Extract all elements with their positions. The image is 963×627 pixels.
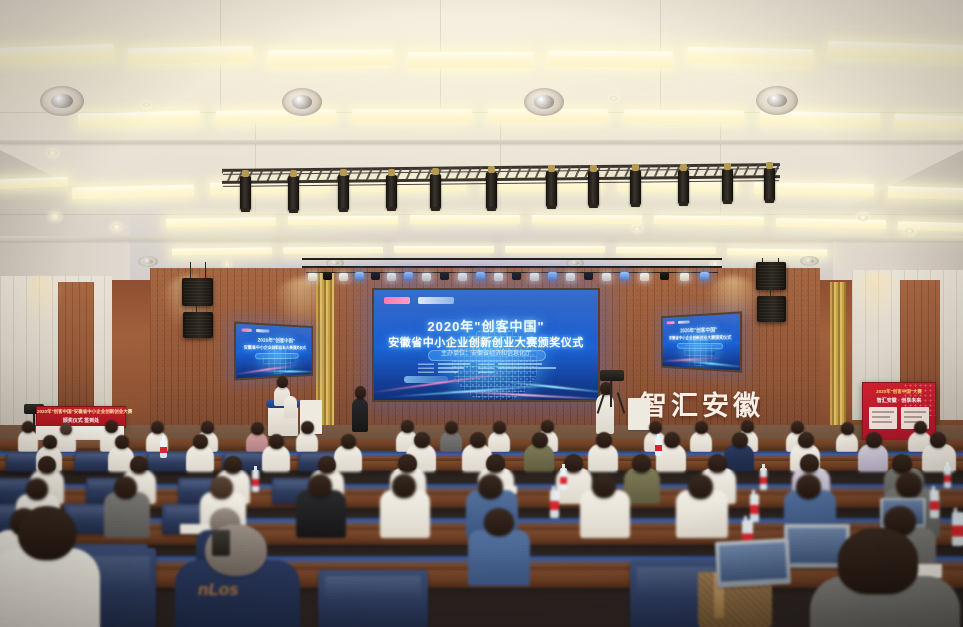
ceiling-lamp	[394, 246, 494, 253]
air-vent	[800, 256, 819, 266]
ceiling-lamp	[616, 247, 716, 255]
stage-person-head	[355, 386, 366, 399]
screen-detail-bar	[438, 371, 458, 373]
ceiling-lamp	[505, 246, 605, 253]
speaker-rigging-wire	[196, 306, 197, 312]
screen-detail-block	[478, 362, 494, 373]
anhui-gov-logo	[678, 320, 690, 323]
par-can-light	[371, 272, 380, 280]
par-can-light	[355, 272, 364, 280]
ceiling-lamp	[352, 109, 472, 122]
ceiling-lamp	[166, 217, 276, 228]
speaker-rigging-wire	[205, 262, 206, 278]
par-can-light	[548, 272, 557, 280]
tshirt-print: nLos	[198, 580, 276, 602]
moving-head-light	[486, 172, 497, 209]
line-array-speaker	[183, 312, 213, 338]
host-head	[277, 376, 288, 388]
rollup-sub: 智汇安徽 · 创享未来	[863, 397, 935, 404]
par-can-light	[440, 272, 449, 280]
par-can-light	[602, 273, 611, 281]
ceiling-lamp	[268, 49, 393, 66]
ceiling-downlight	[224, 262, 230, 266]
par-can-light	[680, 273, 689, 281]
ceiling-lamp	[888, 186, 963, 200]
screen-title: 2020年"创客中国"	[236, 336, 311, 345]
moving-head-light	[764, 168, 775, 201]
screen-detail-bar	[438, 367, 464, 369]
ceiling-downlight	[905, 228, 914, 234]
ceiling-lamp	[688, 47, 813, 66]
water-bottle	[952, 512, 963, 546]
ceiling-downlight	[610, 96, 617, 101]
moving-head-light	[722, 169, 733, 202]
anhui-gov-logo	[256, 329, 270, 333]
front-audience-head	[838, 528, 918, 594]
par-can-light	[458, 273, 467, 281]
screen-subtitle: 安徽省中小企业创新创业大赛颁奖仪式	[236, 344, 311, 351]
stage-curtain-right	[830, 282, 846, 432]
ceiling-downlight	[112, 224, 121, 230]
moving-head-light	[630, 170, 641, 205]
ceiling-lamp	[216, 109, 336, 123]
wall-wash-light	[848, 272, 904, 328]
audience-chair	[318, 570, 428, 627]
par-can-light	[422, 273, 431, 281]
audience-body	[468, 530, 530, 586]
ceiling-lamp	[408, 52, 533, 68]
screen-detail-bar	[498, 363, 542, 365]
video-camera	[600, 370, 624, 381]
stage-truss	[302, 258, 722, 260]
maker-china-logo	[242, 328, 252, 332]
par-can-light	[530, 273, 539, 281]
screen-detail-bar	[438, 363, 470, 365]
par-can-light	[660, 272, 669, 280]
moving-head-light	[678, 170, 689, 204]
par-can-light	[640, 273, 649, 281]
ceiling-lamp	[128, 46, 253, 65]
air-vent	[756, 86, 798, 115]
ceiling-lamp	[532, 215, 642, 225]
moving-head-light	[288, 176, 299, 211]
ceiling-lamp	[654, 215, 764, 225]
maker-china-logo	[384, 297, 410, 304]
moving-head-light	[386, 175, 397, 209]
line-array-speaker	[182, 278, 213, 306]
audience-head	[484, 508, 514, 536]
front-audience-head	[18, 506, 76, 560]
ceiling-lamp	[172, 247, 272, 255]
screen-title: 2020年"创客中国"	[374, 316, 598, 335]
par-can-light	[308, 273, 317, 281]
ceiling-downlight	[143, 102, 150, 107]
ceiling-downlight	[50, 213, 60, 220]
screen-title: 2020年"创客中国"	[663, 326, 740, 335]
speaker-rigging-wire	[190, 262, 191, 278]
moving-head-light	[430, 174, 441, 209]
par-can-light	[323, 272, 332, 280]
screen-detail-bar	[498, 367, 556, 369]
maker-china-logo	[667, 321, 675, 324]
screen-ribbon	[257, 370, 313, 373]
moving-head-light	[338, 175, 349, 210]
par-can-light	[512, 272, 521, 280]
air-vent	[40, 86, 84, 116]
screen-subtitle: 安徽省中小企业创新创业大赛颁奖仪式	[663, 334, 740, 341]
tripod-leg	[610, 381, 612, 407]
moving-head-light	[240, 176, 251, 210]
ceiling-soffit	[0, 140, 963, 144]
moving-head-light	[546, 171, 557, 207]
line-array-speaker	[757, 296, 786, 322]
side-display-right[interactable]: 2020年"创客中国" 安徽省中小企业创新创业大赛颁奖仪式	[661, 311, 742, 373]
par-can-light	[700, 272, 709, 280]
anhui-gov-logo	[418, 297, 454, 304]
ceiling-lamp	[283, 247, 383, 255]
rollup-headline: 2020年"创客中国"大赛	[863, 389, 935, 395]
par-can-light	[387, 273, 396, 281]
side-display-left[interactable]: 2020年"创客中国" 安徽省中小企业创新创业大赛颁奖仪式	[234, 321, 313, 380]
line-array-speaker	[756, 262, 786, 290]
par-can-light	[566, 273, 575, 281]
screen-organizer-pill	[677, 343, 723, 349]
ceiling-downlight	[633, 226, 641, 231]
par-can-light	[620, 272, 629, 280]
screen-subtitle: 安徽省中小企业创新创业大赛颁奖仪式	[374, 334, 598, 350]
par-can-light	[476, 272, 485, 280]
ceiling-lamp	[548, 50, 673, 67]
screen-organizer-pill	[255, 353, 299, 359]
par-can-light	[404, 272, 413, 280]
laptop-computer[interactable]	[715, 538, 791, 588]
ceiling-downlight	[48, 150, 57, 156]
thermos-cup	[212, 530, 230, 556]
conference-hall-photo: 2020年"创客中国" 安徽省中小企业创新创业大赛颁奖仪式 主办单位：安徽省经济…	[0, 0, 963, 627]
ceiling-lamp	[624, 109, 744, 123]
ceiling-downlight	[858, 214, 868, 221]
air-vent	[524, 88, 564, 116]
ceiling-lamp	[894, 114, 963, 129]
screen-detail-block	[418, 362, 434, 373]
par-can-light	[339, 273, 348, 281]
screen-organizer: 主办单位：安徽省经济和信息化厅	[374, 350, 598, 359]
main-led-screen[interactable]: 2020年"创客中国" 安徽省中小企业创新创业大赛颁奖仪式 主办单位：安徽省经济…	[372, 288, 600, 402]
ceiling-lamp	[288, 216, 398, 226]
speaker-rigging-wire	[770, 290, 771, 296]
par-can-light	[584, 272, 593, 280]
air-vent	[138, 256, 158, 267]
ceiling-lamp	[410, 215, 520, 224]
air-vent	[282, 88, 322, 116]
par-can-light	[494, 273, 503, 281]
wall-wash-light	[18, 276, 64, 330]
stage-truss	[302, 266, 722, 268]
moving-head-light	[588, 171, 599, 206]
